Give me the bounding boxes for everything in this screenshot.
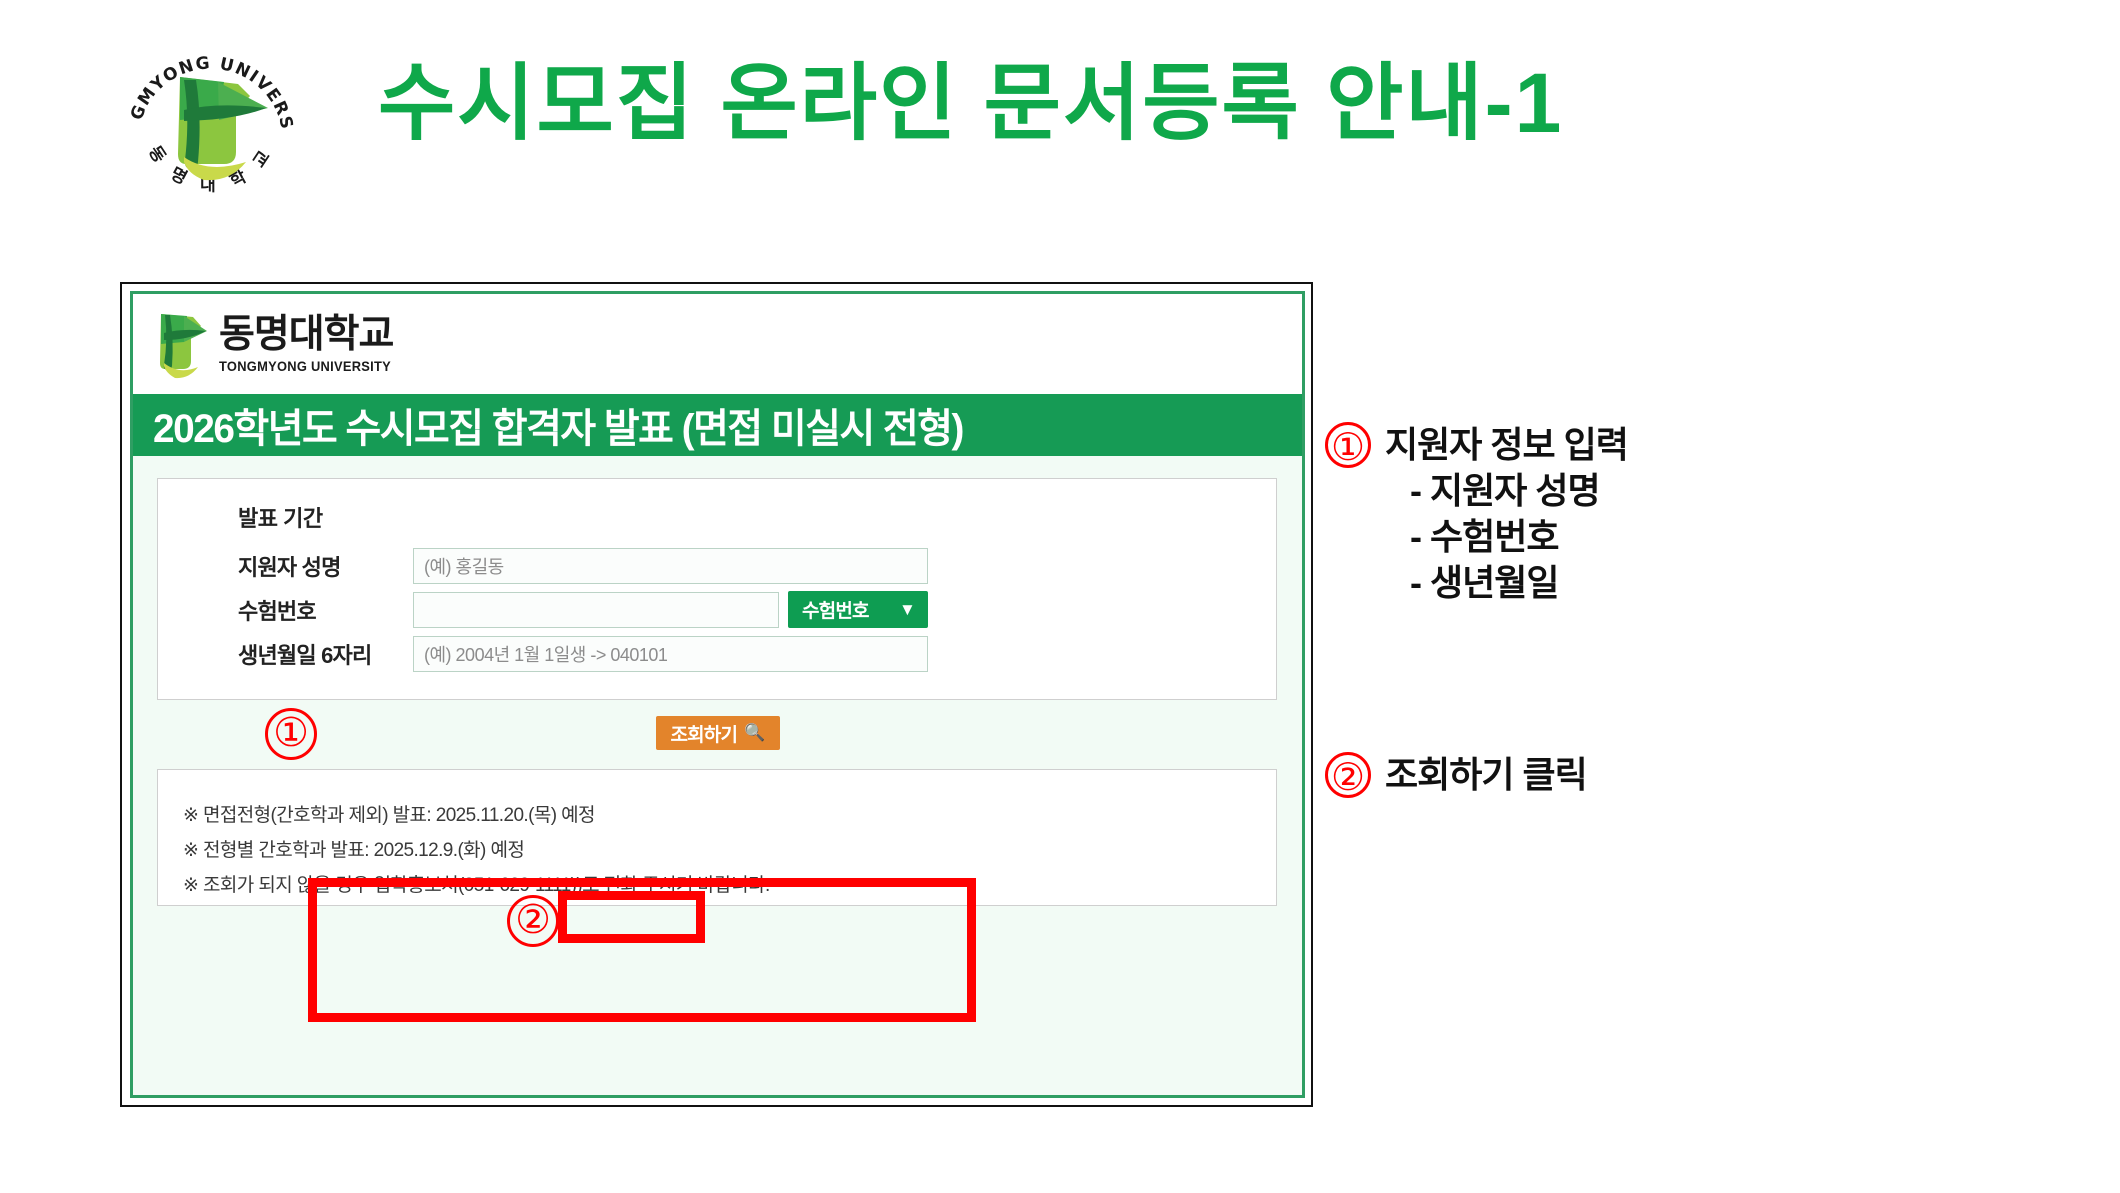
label-exam-number: 수험번호: [238, 594, 413, 626]
label-birthdate: 생년월일 6자리: [238, 638, 413, 670]
page-header: TONGMYONG UNIVERSITY 동 명 대 학 교 수시모집 온라인 …: [0, 0, 2120, 215]
university-crest-logo: TONGMYONG UNIVERSITY 동 명 대 학 교: [118, 22, 303, 197]
annotation-1-title: 지원자 정보 입력: [1385, 422, 1628, 468]
announcement-banner: 2026학년도 수시모집 합격자 발표 (면접 미실시 전형): [133, 394, 1302, 456]
birthdate-input[interactable]: (예) 2004년 1월 1일생 -> 040101: [413, 636, 928, 672]
notes-box: ※ 면접전형(간호학과 제외) 발표: 2025.11.20.(목) 예정 ※ …: [157, 769, 1277, 906]
annotation-1: ① 지원자 정보 입력 - 지원자 성명 - 수험번호 - 생년월일: [1325, 422, 1628, 606]
annotation-2: ② 조회하기 클릭: [1325, 752, 1587, 798]
annotation-1-item: - 수험번호: [1410, 514, 1628, 560]
exam-number-dropdown-label: 수험번호: [802, 596, 869, 623]
search-icon: 🔍: [744, 723, 764, 743]
form-row-birthdate: 생년월일 6자리 (예) 2004년 1월 1일생 -> 040101: [238, 633, 928, 674]
page-title: 수시모집 온라인 문서등록 안내-1: [378, 48, 1563, 158]
marker-1-on-form: ①: [265, 708, 317, 760]
marker-2-on-button: ②: [507, 895, 559, 947]
tongmyong-logo-icon: [153, 309, 209, 379]
screenshot-card: 동명대학교 TONGMYONG UNIVERSITY 2026학년도 수시모집 …: [120, 282, 1313, 1107]
form-row-exam-number: 수험번호 수험번호 ▼: [238, 589, 928, 630]
applicant-name-input[interactable]: (예) 홍길동: [413, 548, 928, 584]
annotation-1-head: ① 지원자 정보 입력: [1325, 422, 1628, 468]
search-button[interactable]: 조회하기 🔍: [656, 716, 780, 750]
annotation-2-marker: ②: [1325, 752, 1371, 798]
annotation-2-head: ② 조회하기 클릭: [1325, 752, 1587, 798]
note-line: ※ 전형별 간호학과 발표: 2025.12.9.(화) 예정: [183, 833, 1276, 868]
brand-text-block: 동명대학교 TONGMYONG UNIVERSITY: [219, 313, 406, 375]
brand-name-en: TONGMYONG UNIVERSITY: [219, 357, 391, 375]
form-row-name: 지원자 성명 (예) 홍길동: [238, 545, 928, 586]
annotation-2-title: 조회하기 클릭: [1385, 752, 1587, 798]
announcement-banner-text: 2026학년도 수시모집 합격자 발표 (면접 미실시 전형): [153, 396, 963, 454]
brand-name-ko: 동명대학교: [219, 313, 406, 357]
note-line: ※ 조회가 되지 않을 경우 입학홍보처(051-629-1111))로 전화 …: [183, 868, 1276, 903]
period-label: 발표 기간: [238, 501, 323, 533]
annotation-1-marker: ①: [1325, 422, 1371, 468]
applicant-form-panel: 발표 기간 지원자 성명 (예) 홍길동 수험번호 수험번호 ▼ 생년월일 6자…: [157, 478, 1277, 700]
exam-number-input[interactable]: [413, 592, 779, 628]
screenshot-inner-frame: 동명대학교 TONGMYONG UNIVERSITY 2026학년도 수시모집 …: [130, 291, 1305, 1098]
chevron-down-icon: ▼: [899, 601, 915, 618]
search-button-label: 조회하기: [670, 720, 737, 747]
site-brand-bar: 동명대학교 TONGMYONG UNIVERSITY: [133, 294, 1302, 394]
exam-number-dropdown[interactable]: 수험번호 ▼: [788, 591, 928, 628]
note-line: ※ 면접전형(간호학과 제외) 발표: 2025.11.20.(목) 예정: [183, 798, 1276, 833]
annotation-1-item: - 생년월일: [1410, 560, 1628, 606]
label-applicant-name: 지원자 성명: [238, 550, 413, 582]
annotation-1-item: - 지원자 성명: [1410, 468, 1628, 514]
